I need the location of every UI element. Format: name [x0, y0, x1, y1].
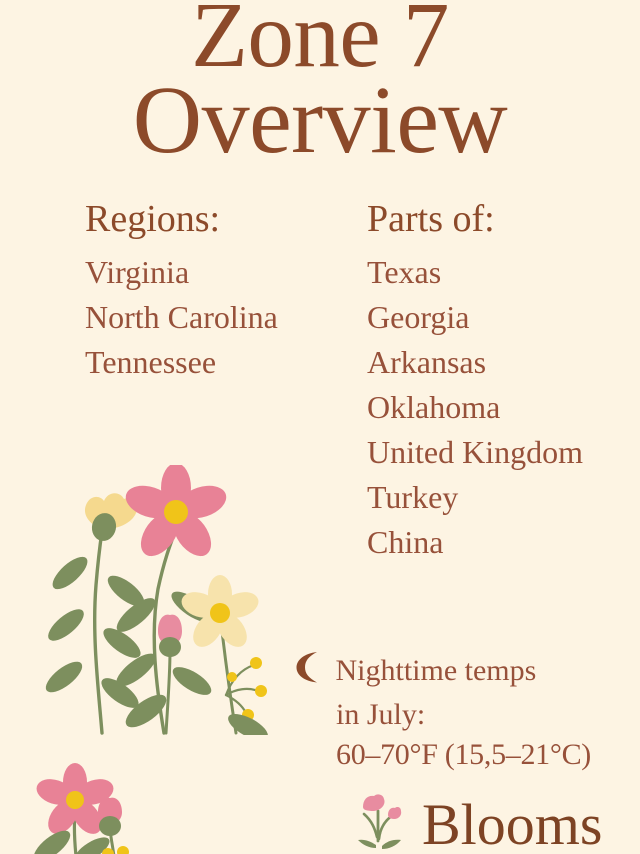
info-columns: Regions: Virginia North Carolina Tenness…	[0, 196, 640, 616]
list-item: Oklahoma	[367, 385, 583, 430]
parts-of-column: Parts of: Texas Georgia Arkansas Oklahom…	[367, 196, 583, 565]
list-item: Texas	[367, 250, 583, 295]
blooms-block: Blooms	[352, 793, 603, 854]
list-item: United Kingdom	[367, 430, 583, 475]
parts-of-heading: Parts of:	[367, 196, 583, 242]
nighttime-temps-block: Nighttime temps in July: 60–70°F (15,5–2…	[292, 650, 640, 775]
parts-of-list: Texas Georgia Arkansas Oklahoma United K…	[367, 250, 583, 565]
zone-overview-card: Zone 7 Overview Regions: Virginia North …	[0, 0, 640, 854]
list-item: Georgia	[367, 295, 583, 340]
list-item: Turkey	[367, 475, 583, 520]
list-item: Arkansas	[367, 340, 583, 385]
tulip-flowers-icon	[352, 793, 414, 854]
nighttime-temps-value: 60–70°F (15,5–21°C)	[336, 735, 640, 775]
list-item: Tennessee	[85, 340, 278, 385]
nighttime-temps-heading: Nighttime temps	[292, 650, 640, 695]
nighttime-temps-label: Nighttime temps	[336, 654, 537, 687]
page-title: Zone 7 Overview	[0, 0, 640, 162]
nighttime-temps-month: in July:	[336, 695, 640, 735]
blooms-label: Blooms	[422, 794, 603, 854]
list-item: Virginia	[85, 250, 278, 295]
regions-list: Virginia North Carolina Tennessee	[85, 250, 278, 385]
crescent-moon-icon	[292, 650, 322, 695]
title-line-2: Overview	[0, 78, 640, 162]
regions-heading: Regions:	[85, 196, 278, 242]
regions-column: Regions: Virginia North Carolina Tenness…	[85, 196, 278, 385]
pink-daisy-illustration	[18, 762, 218, 854]
list-item: North Carolina	[85, 295, 278, 340]
list-item: China	[367, 520, 583, 565]
